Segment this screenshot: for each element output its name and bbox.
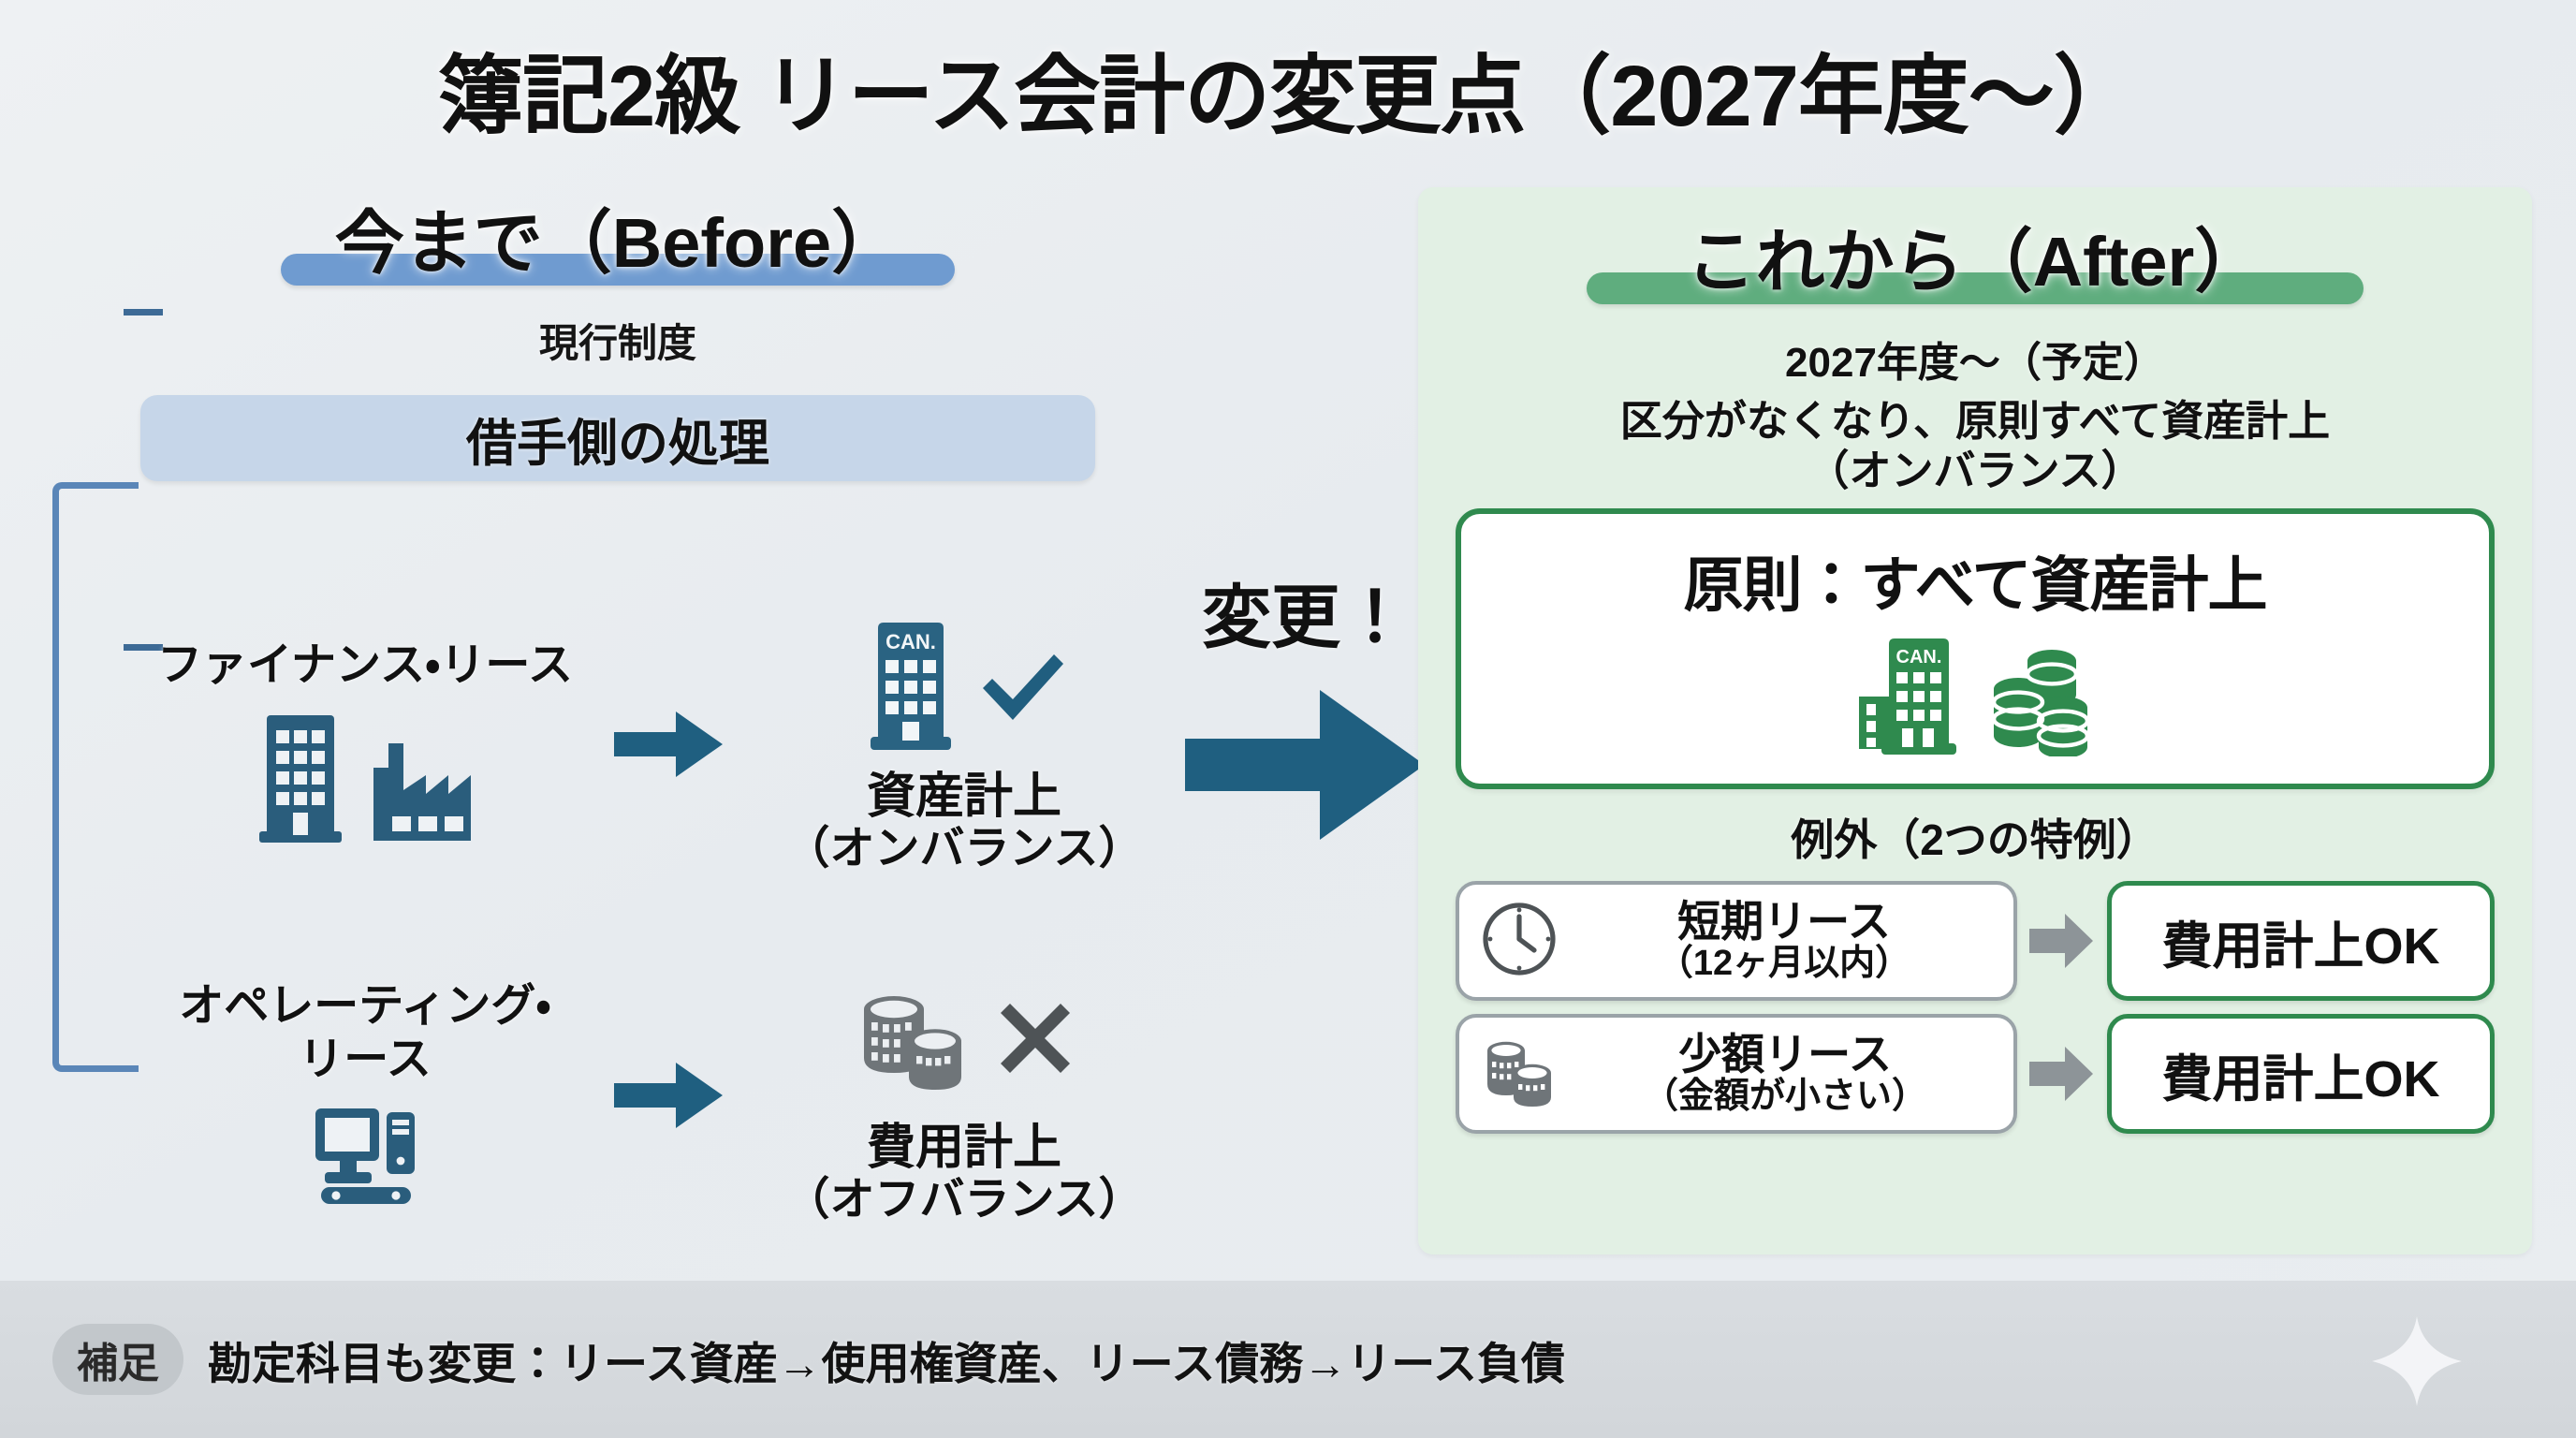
operating-lease-label-line1: オペレーティング・ (131, 980, 599, 1034)
exception-small-lease-detail: （金額が小さい） (1573, 1078, 1997, 1117)
exception-short-lease-box: 短期リース （12ヶ月以内） (1456, 881, 2017, 1001)
after-year-note: 2027年度〜（予定） (1418, 329, 2532, 389)
finance-lease-result-sub: （オンバランス） (739, 824, 1189, 874)
footer-badge: 補足 (52, 1324, 183, 1395)
bank-building-icon: CAN. (859, 617, 962, 762)
after-heading: これから（After） (1418, 206, 2532, 306)
exception-small-lease-result-label: 費用計上OK (2162, 1037, 2440, 1111)
finance-lease-icons (131, 708, 599, 849)
right-arrow-icon (2029, 912, 2095, 970)
exception-short-lease-name: 短期リース (1572, 899, 1997, 945)
svg-text:CAN.: CAN. (885, 630, 936, 653)
principle-card: 原則：すべて資産計上 CAN. (1456, 508, 2495, 789)
after-panel: これから（After） 2027年度〜（予定） 区分がなくなり、原則すべて資産計… (1418, 187, 2532, 1255)
exception-small-lease-text: 少額リース （金額が小さい） (1573, 1032, 2013, 1117)
exception-title: 例外（2つの特例） (1418, 806, 2532, 868)
factory-icon (366, 734, 478, 849)
after-heading-wrap: これから（After） (1418, 187, 2532, 306)
finance-lease-label: ファイナンス・リース (131, 639, 599, 693)
infographic-canvas: 簿記2級 リース会計の変更点（2027年度〜） 今まで（Before） 現行制度… (0, 0, 2576, 1438)
desktop-computer-icon (308, 1101, 422, 1211)
finance-lease-left: ファイナンス・リース (131, 639, 599, 849)
exception-row-small-lease: 少額リース （金額が小さい） 費用計上OK (1456, 1014, 2495, 1134)
right-arrow-icon (614, 708, 724, 781)
operating-lease-result-icons (739, 965, 1189, 1115)
exception-short-lease-text: 短期リース （12ヶ月以内） (1572, 899, 2013, 984)
operating-lease-arrow (599, 1059, 739, 1132)
footer-text: 勘定科目も変更：リース資産→使用権資産、リース債務→リース負債 (208, 1328, 1565, 1392)
exception-short-lease-result-label: 費用計上OK (2162, 904, 2440, 978)
change-label: 変更！ (1165, 562, 1446, 662)
operating-lease-result-sub: （オフバランス） (739, 1175, 1189, 1225)
before-panel: 今まで（Before） 現行制度 借手側の処理 ファイナンス・リース (37, 187, 1198, 1255)
exception-short-lease-arrow (2017, 912, 2107, 970)
exception-row-short-lease: 短期リース （12ヶ月以内） 費用計上OK (1456, 881, 2495, 1001)
right-arrow-icon (614, 1059, 724, 1132)
exception-small-lease-name: 少額リース (1573, 1032, 1997, 1078)
finance-lease-result-title: 資産計上 (739, 770, 1189, 824)
bracket-tick-finance (124, 309, 163, 315)
finance-lease-result-icons: CAN. (739, 614, 1189, 764)
sparkle-icon (2368, 1313, 2466, 1415)
operating-lease-icons (131, 1101, 599, 1211)
cross-mark-icon (995, 998, 1076, 1083)
exception-short-lease-result: 費用計上OK (2107, 881, 2495, 1001)
finance-lease-row: ファイナンス・リース (131, 590, 1198, 899)
coins-icon (853, 983, 980, 1098)
change-indicator: 変更！ (1165, 562, 1446, 847)
coins-icon (1480, 1034, 1560, 1115)
operating-lease-label-line2: リース (131, 1034, 599, 1087)
finance-lease-result: CAN. (739, 614, 1189, 874)
after-description-line1: 区分がなくなり、原則すべて資産計上 (1418, 396, 2532, 446)
operating-lease-result-title: 費用計上 (739, 1121, 1189, 1175)
exception-short-lease-detail: （12ヶ月以内） (1572, 945, 1997, 984)
svg-text:CAN.: CAN. (1896, 647, 1942, 668)
exception-small-lease-arrow (2017, 1045, 2107, 1103)
finance-lease-arrow (599, 708, 739, 781)
before-subtitle: 現行制度 (37, 312, 1198, 369)
lease-type-bracket (52, 482, 139, 1072)
lessee-treatment-label: 借手側の処理 (466, 402, 769, 476)
exception-small-lease-result: 費用計上OK (2107, 1014, 2495, 1134)
before-heading: 今まで（Before） (37, 187, 1198, 287)
right-arrow-icon (2029, 1045, 2095, 1103)
footer-badge-label: 補足 (77, 1329, 159, 1389)
page-title: 簿記2級 リース会計の変更点（2027年度〜） (0, 26, 2576, 151)
before-heading-wrap: 今まで（Before） (37, 187, 1198, 287)
operating-lease-row: オペレーティング・ リース (131, 936, 1198, 1255)
principle-icons: CAN. (1851, 633, 2099, 761)
exception-small-lease-box: 少額リース （金額が小さい） (1456, 1014, 2017, 1134)
big-right-arrow-icon (1165, 682, 1446, 847)
lessee-treatment-box: 借手側の処理 (140, 395, 1095, 481)
principle-title: 原則：すべて資産計上 (1684, 537, 2267, 624)
after-description-line2: （オンバランス） (1418, 446, 2532, 495)
check-mark-icon (977, 647, 1069, 732)
bank-building-icon: CAN. (1851, 633, 1971, 761)
operating-lease-result: 費用計上 （オフバランス） (739, 965, 1189, 1225)
office-building-icon (252, 708, 349, 849)
coins-icon (1988, 644, 2099, 761)
operating-lease-left: オペレーティング・ リース (131, 980, 599, 1211)
footer-note: 補足 勘定科目も変更：リース資産→使用権資産、リース債務→リース負債 (0, 1281, 2576, 1438)
clock-icon (1480, 900, 1559, 983)
